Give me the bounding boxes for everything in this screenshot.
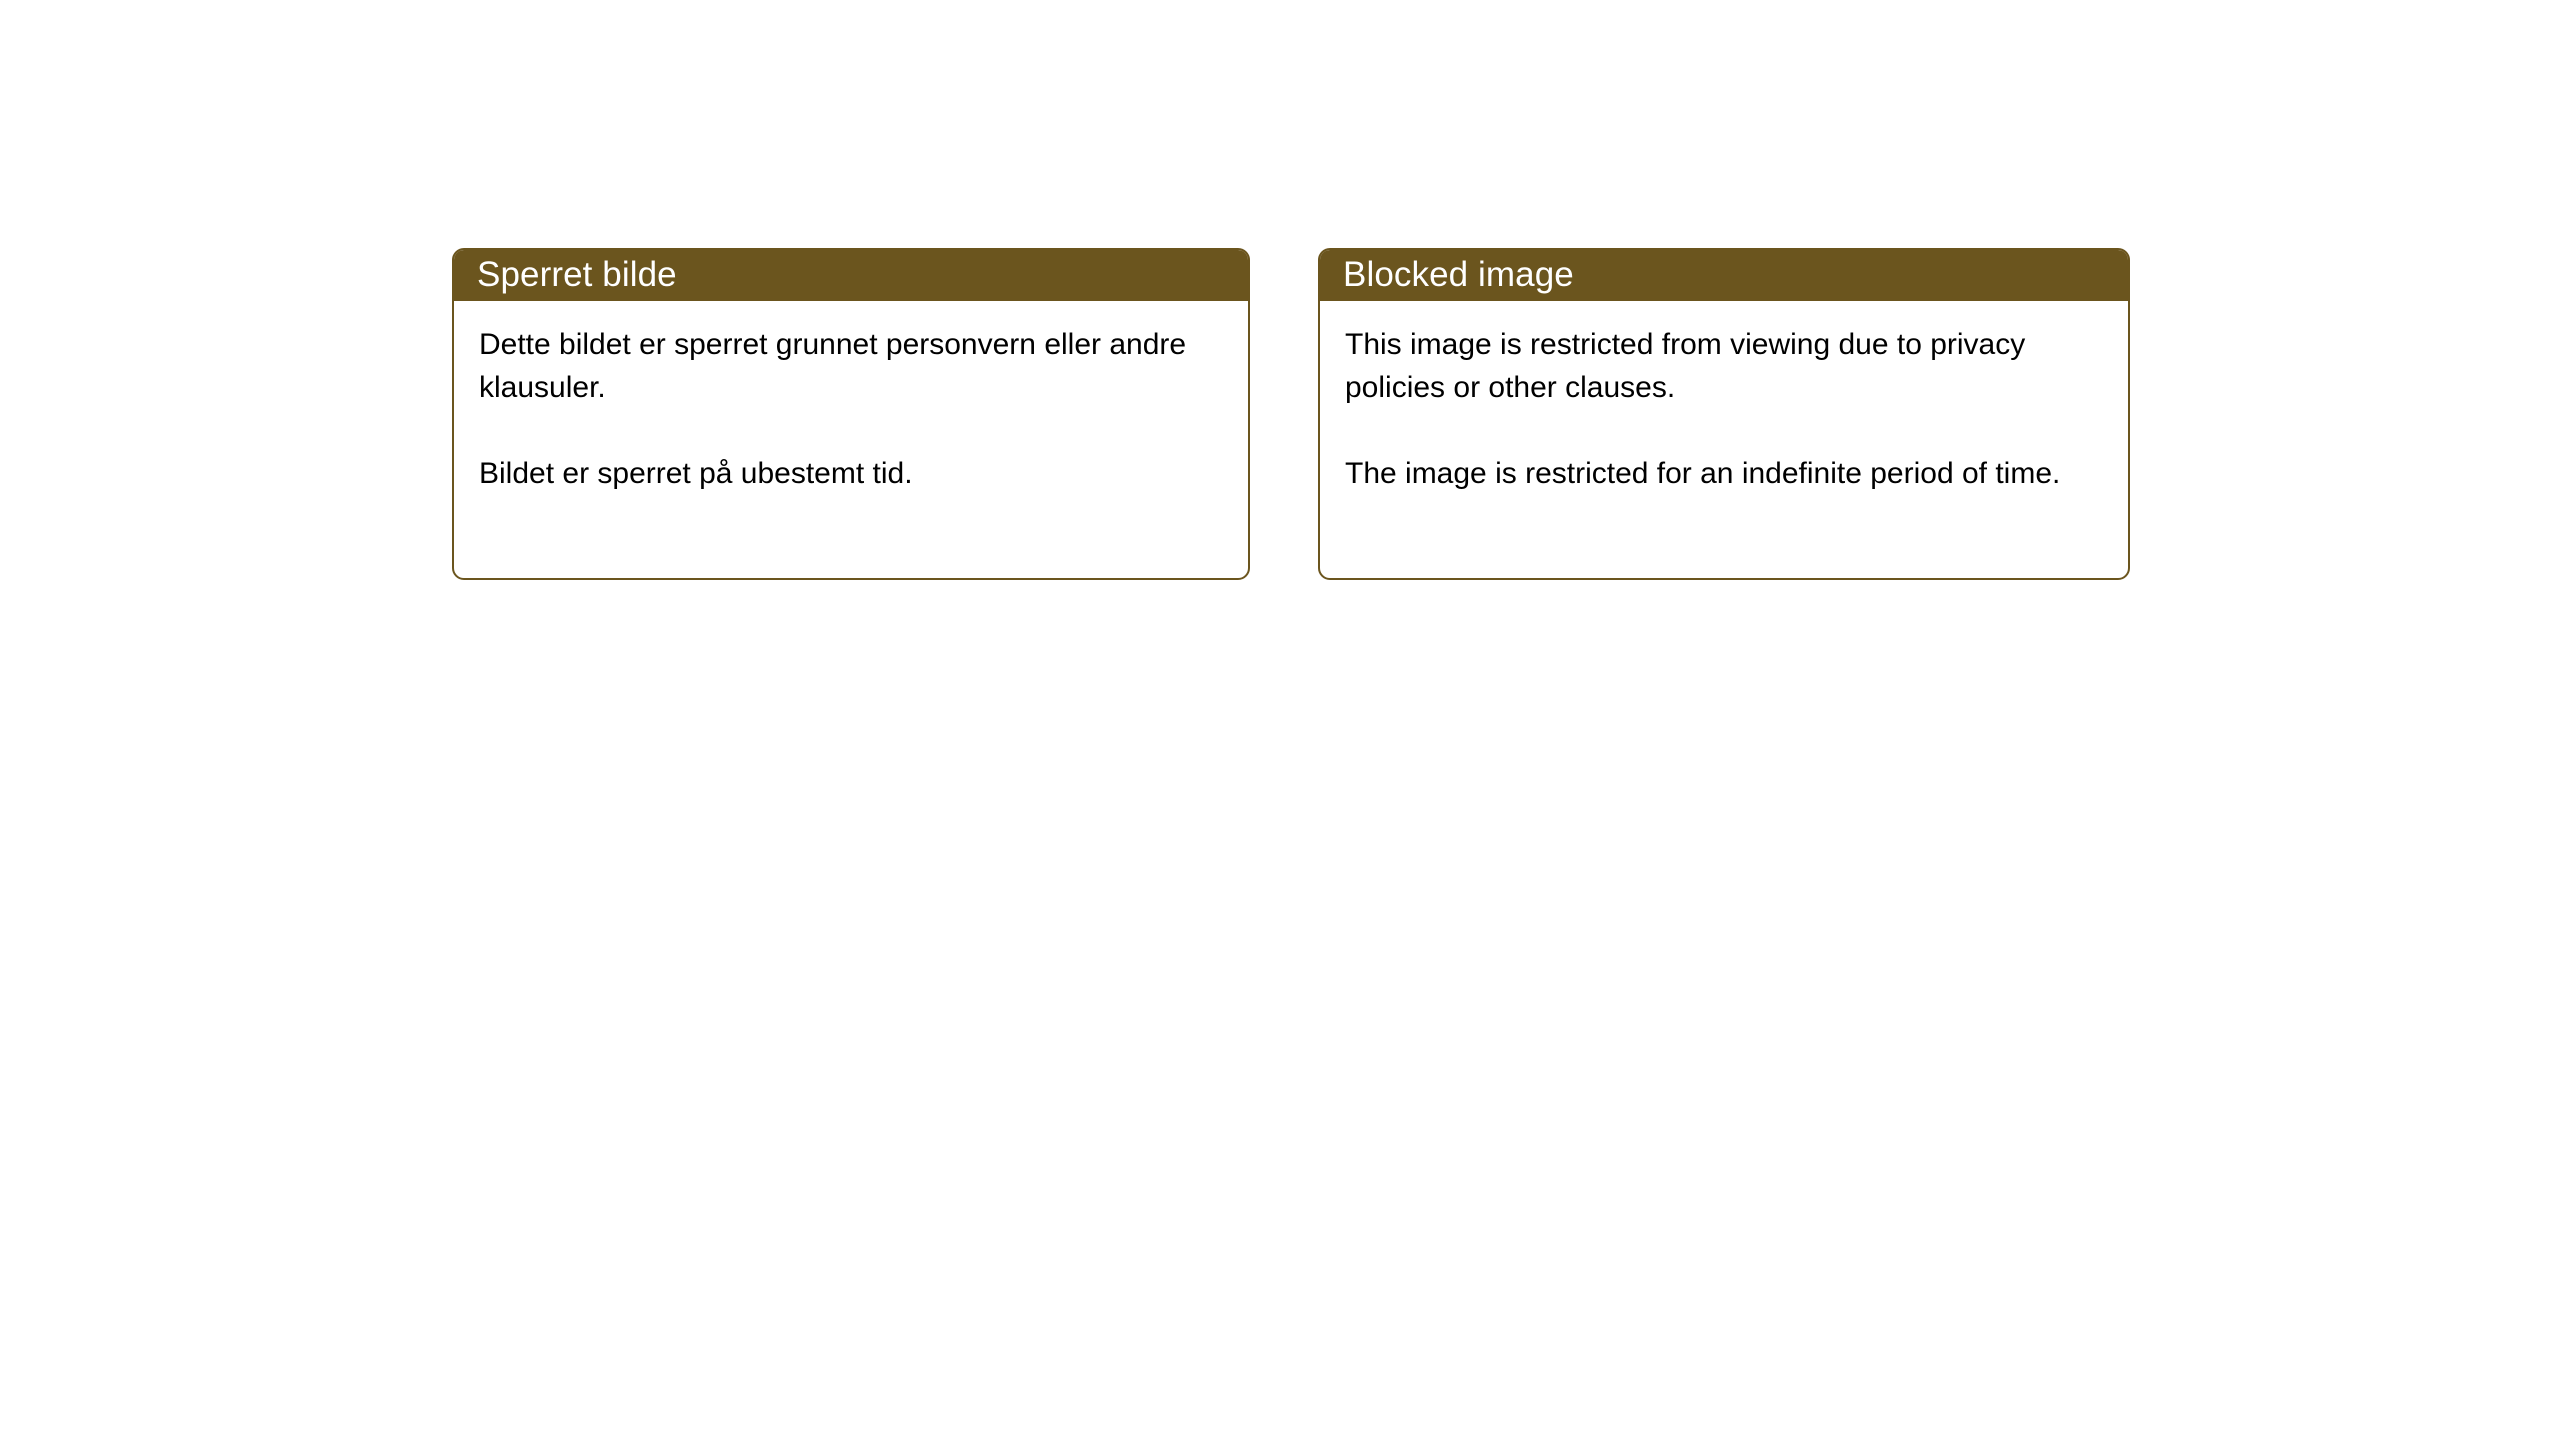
card-title-norwegian: Sperret bilde [477, 257, 677, 292]
blocked-image-notice-area: Sperret bilde Dette bildet er sperret gr… [0, 0, 2560, 1440]
card-paragraph-reason-english: This image is restricted from viewing du… [1345, 323, 2102, 409]
card-paragraph-duration-norwegian: Bildet er sperret på ubestemt tid. [479, 452, 1222, 495]
card-body-norwegian: Dette bildet er sperret grunnet personve… [454, 301, 1248, 495]
card-header-english: Blocked image [1318, 248, 2130, 301]
card-body-english: This image is restricted from viewing du… [1320, 301, 2128, 495]
card-paragraph-reason-norwegian: Dette bildet er sperret grunnet personve… [479, 323, 1222, 409]
card-header-norwegian: Sperret bilde [452, 248, 1250, 301]
blocked-image-card-norwegian: Sperret bilde Dette bildet er sperret gr… [452, 248, 1250, 580]
blocked-image-card-english: Blocked image This image is restricted f… [1318, 248, 2130, 580]
card-title-english: Blocked image [1343, 257, 1574, 292]
card-paragraph-duration-english: The image is restricted for an indefinit… [1345, 452, 2102, 495]
